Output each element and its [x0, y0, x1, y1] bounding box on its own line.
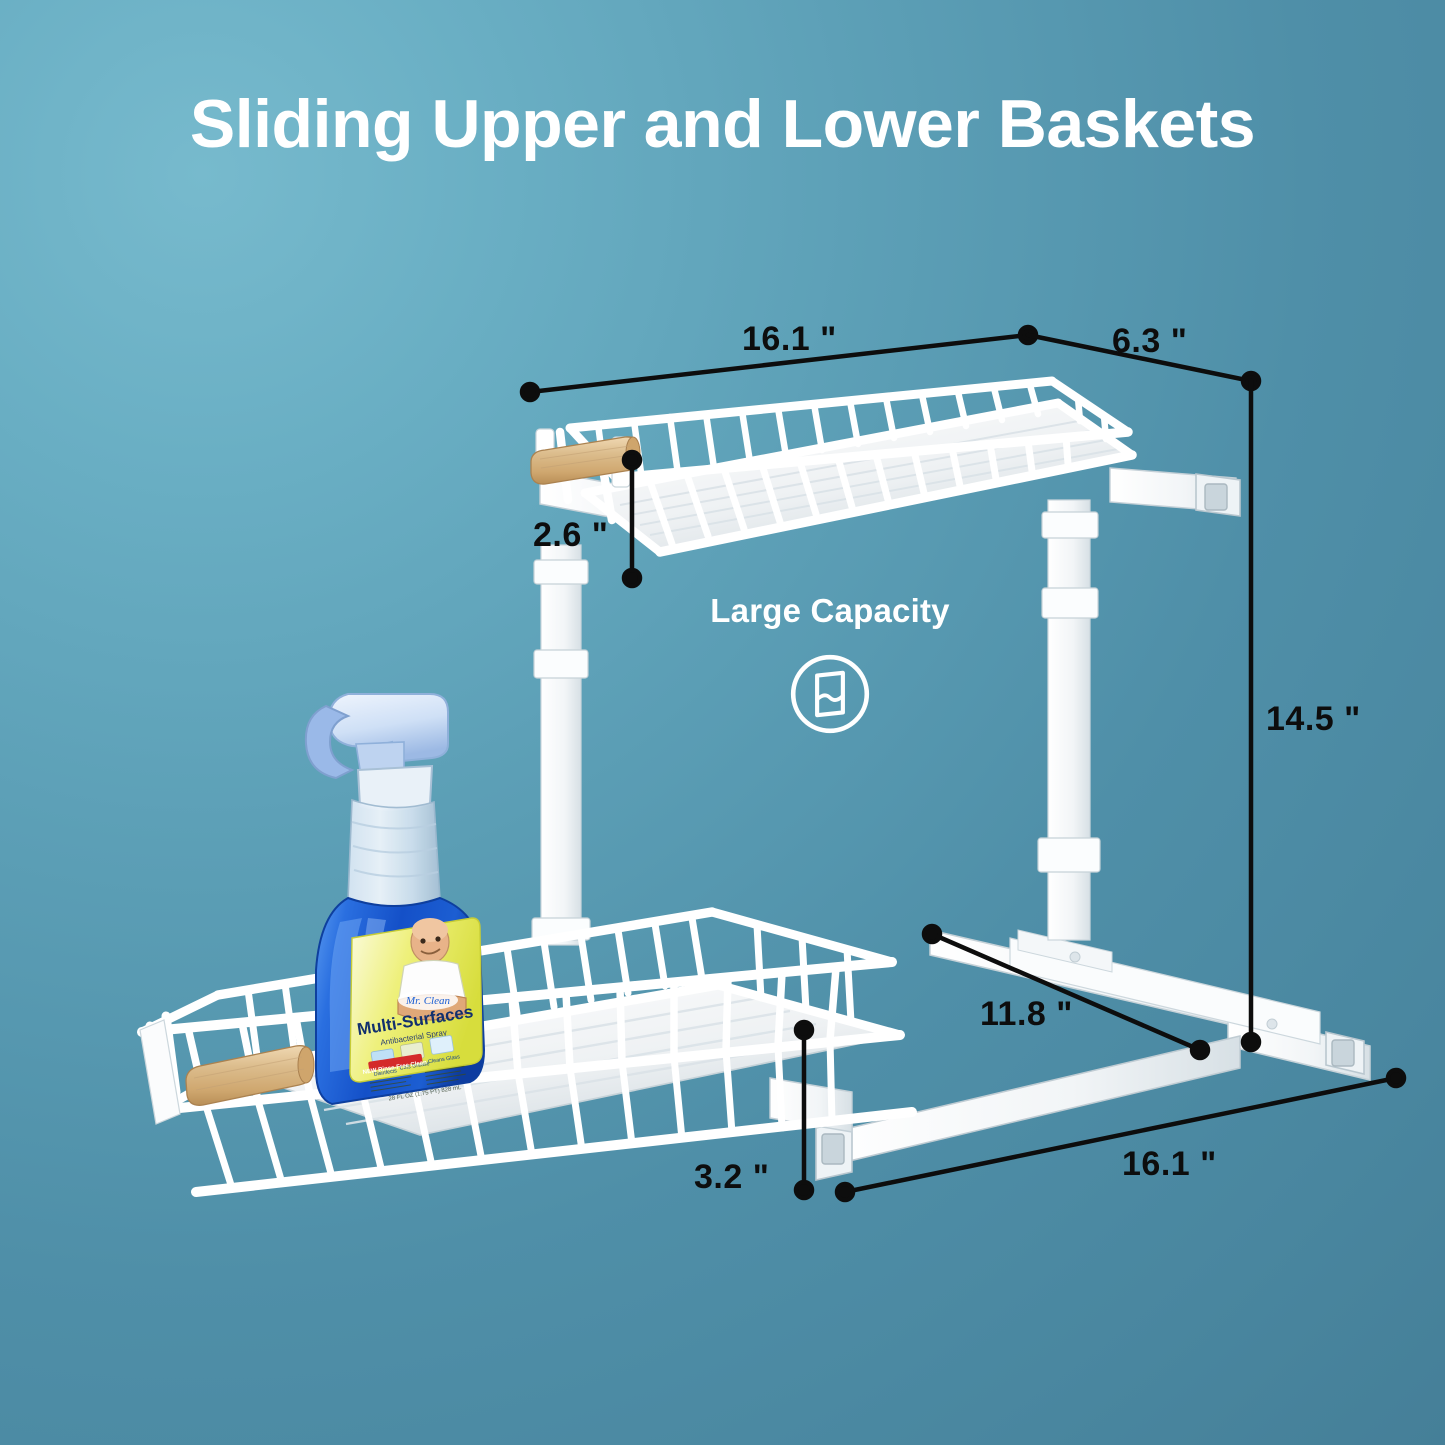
- dimension-upper-basket-width: 16.1 ": [742, 320, 837, 359]
- lower-basket: [140, 912, 912, 1192]
- dimension-upper-basket-depth: 6.3 ": [1112, 322, 1187, 361]
- large-capacity-feature: Large Capacity: [675, 592, 985, 745]
- dimension-upper-basket-height: 2.6 ": [533, 516, 608, 555]
- dimension-lower-basket-height: 3.2 ": [694, 1158, 769, 1197]
- large-capacity-label: Large Capacity: [675, 592, 985, 630]
- dimension-base-width: 16.1 ": [1122, 1145, 1217, 1184]
- dimension-base-depth: 11.8 ": [980, 995, 1073, 1034]
- svg-text:Mr. Clean: Mr. Clean: [405, 995, 451, 1007]
- infographic-canvas: Mr. Clean Multi-Surfaces Antibacterial S…: [0, 0, 1445, 1445]
- large-capacity-icon: [784, 648, 876, 740]
- page-title: Sliding Upper and Lower Baskets: [0, 88, 1445, 160]
- dimension-total-height: 14.5 ": [1266, 700, 1361, 739]
- spray-bottle: Mr. Clean Multi-Surfaces Antibacterial S…: [306, 694, 484, 1105]
